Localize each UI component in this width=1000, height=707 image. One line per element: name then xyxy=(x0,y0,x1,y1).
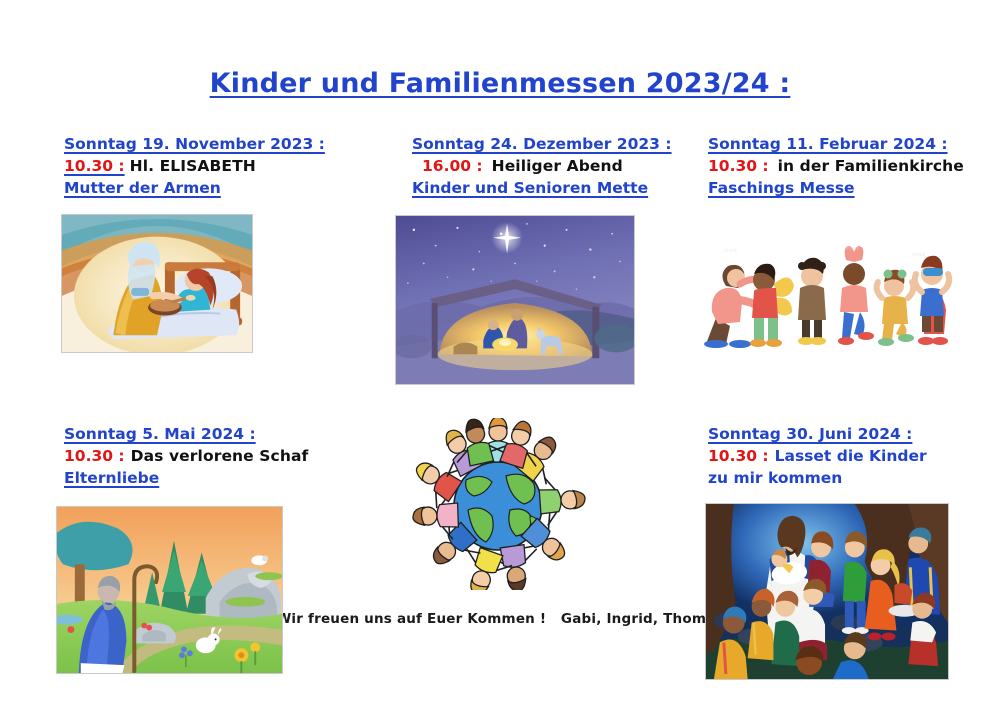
entry-subtitle-3: Faschings Messe xyxy=(708,177,964,199)
entry-time-row-5: 10.30 :Lasset die Kinder xyxy=(708,445,927,467)
entry-subtitle-5: zu mir kommen xyxy=(708,467,927,489)
entry-time-row-1: 10.30 :Hl. ELISABETH xyxy=(64,155,325,177)
entry-time-1: 10.30 : xyxy=(64,157,125,175)
entry-time-5: 10.30 : xyxy=(708,447,769,465)
entry-time-4: 10.30 : xyxy=(64,447,125,465)
entry-title-4: Das verlorene Schaf xyxy=(125,447,309,465)
carnival-children-illustration: stockstockstock xyxy=(696,240,952,350)
entry-date-4: Sonntag 5. Mai 2024 : xyxy=(64,423,308,445)
entry-block-3: Sonntag 11. Februar 2024 : 10.30 :in der… xyxy=(708,133,964,199)
entry-block-1: Sonntag 19. November 2023 : 10.30 :Hl. E… xyxy=(64,133,325,199)
entry-subtitle-4: Elternliebe xyxy=(64,467,308,489)
image-children-in-carnival-costumes: stockstockstock xyxy=(696,240,952,350)
svg-text:stock: stock xyxy=(912,252,925,258)
entry-block-5: Sonntag 30. Juni 2024 : 10.30 :Lasset di… xyxy=(708,423,927,489)
entry-title-2: Heiliger Abend xyxy=(483,157,623,175)
svg-text:stock: stock xyxy=(724,248,737,254)
entry-block-2: Sonntag 24. Dezember 2023 : 16.00 :Heili… xyxy=(412,133,672,199)
entry-block-4: Sonntag 5. Mai 2024 : 10.30 :Das verlore… xyxy=(64,423,308,489)
image-children-holding-hands-around-globe xyxy=(408,418,588,590)
entry-time-3: 10.30 : xyxy=(708,157,769,175)
shepherd-illustration xyxy=(57,507,282,673)
image-nativity-stable-starry-night xyxy=(395,215,635,385)
image-shepherd-lost-sheep-meadow xyxy=(56,506,283,674)
entry-date-1: Sonntag 19. November 2023 : xyxy=(64,133,325,155)
entry-time-row-4: 10.30 :Das verlorene Schaf xyxy=(64,445,308,467)
entry-title-1: Hl. ELISABETH xyxy=(125,157,256,175)
entry-title-5: Lasset die Kinder xyxy=(769,447,927,465)
entry-date-3: Sonntag 11. Februar 2024 : xyxy=(708,133,964,155)
svg-text:stock: stock xyxy=(846,246,859,252)
entry-subtitle-2: Kinder und Senioren Mette xyxy=(412,177,672,199)
st-elisabeth-illustration xyxy=(62,215,252,352)
nativity-illustration xyxy=(396,216,634,384)
image-st-elisabeth-feeding-sick-watercolor xyxy=(61,214,253,353)
image-jesus-with-children-painting xyxy=(705,503,949,680)
entry-subtitle-1: Mutter der Armen xyxy=(64,177,325,199)
jesus-children-illustration xyxy=(706,504,948,679)
poster-page: Kinder und Familienmessen 2023/24 : Sonn… xyxy=(0,0,1000,707)
entry-title-3: in der Familienkirche xyxy=(769,157,964,175)
entry-date-5: Sonntag 30. Juni 2024 : xyxy=(708,423,927,445)
page-title: Kinder und Familienmessen 2023/24 : xyxy=(0,68,1000,99)
entry-time-row-2: 16.00 :Heiliger Abend xyxy=(412,155,672,177)
entry-date-2: Sonntag 24. Dezember 2023 : xyxy=(412,133,672,155)
entry-time-row-3: 10.30 :in der Familienkirche xyxy=(708,155,964,177)
entry-time-2: 16.00 : xyxy=(422,157,483,175)
globe-children-illustration xyxy=(408,418,588,590)
